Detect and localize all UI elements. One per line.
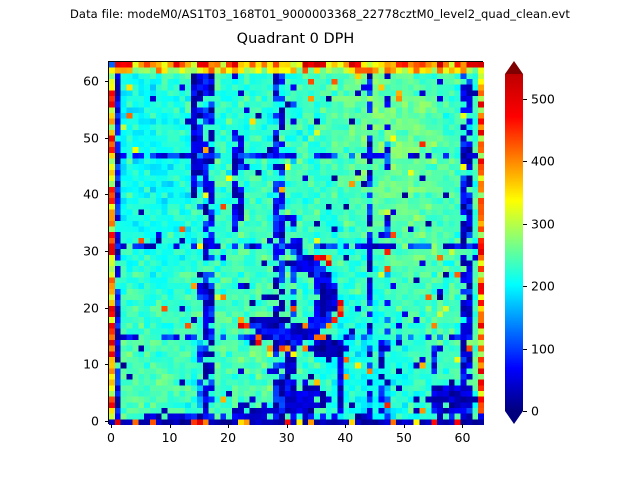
y-axis-tick-label: 0 [99, 414, 107, 429]
x-axis-tick [345, 424, 346, 428]
y-axis-tick-label: 50 [99, 130, 115, 145]
colorbar-tick [523, 224, 527, 225]
x-axis-tick-label: 30 [279, 430, 295, 445]
colorbar-tick [523, 99, 527, 100]
colorbar-gradient-canvas [505, 74, 523, 411]
colorbar-extend-max-arrow-icon [505, 61, 523, 74]
colorbar-tick-label: 200 [531, 279, 555, 294]
colorbar-tick-label: 300 [531, 216, 555, 231]
x-axis-tick-label: 50 [396, 430, 412, 445]
colorbar-tick-label: 400 [531, 154, 555, 169]
y-axis-tick-label: 20 [99, 300, 115, 315]
colorbar-tick [523, 286, 527, 287]
colorbar-tick [523, 161, 527, 162]
colorbar-tick-label: 0 [531, 404, 539, 419]
x-axis-tick [462, 424, 463, 428]
colorbar-tick-label: 500 [531, 91, 555, 106]
x-axis-tick [228, 424, 229, 428]
heatmap-axes[interactable] [108, 61, 483, 424]
x-axis-tick [170, 424, 171, 428]
x-axis-tick-label: 0 [107, 430, 115, 445]
colorbar-tick-label: 100 [531, 341, 555, 356]
y-axis-tick-label: 60 [99, 73, 115, 88]
y-axis-tick-label: 10 [99, 357, 115, 372]
colorbar[interactable]: 0100200300400500 [505, 61, 523, 424]
x-axis-tick-label: 40 [337, 430, 353, 445]
x-axis-tick [111, 424, 112, 428]
page-title: Quadrant 0 DPH [108, 31, 483, 47]
x-axis-tick-label: 20 [220, 430, 236, 445]
x-axis-tick [404, 424, 405, 428]
dph-heatmap-image[interactable] [109, 62, 484, 425]
colorbar-gradient [505, 74, 523, 411]
y-axis-tick-label: 40 [99, 187, 115, 202]
colorbar-tick [523, 411, 527, 412]
colorbar-extend-min-arrow-icon [505, 411, 523, 424]
x-axis-tick-label: 10 [162, 430, 178, 445]
x-axis-tick-label: 60 [455, 430, 471, 445]
y-axis-tick-label: 30 [99, 244, 115, 259]
data-file-label: Data file: modeM0/AS1T03_168T01_90000033… [0, 7, 640, 21]
x-axis-tick [287, 424, 288, 428]
colorbar-tick [523, 349, 527, 350]
